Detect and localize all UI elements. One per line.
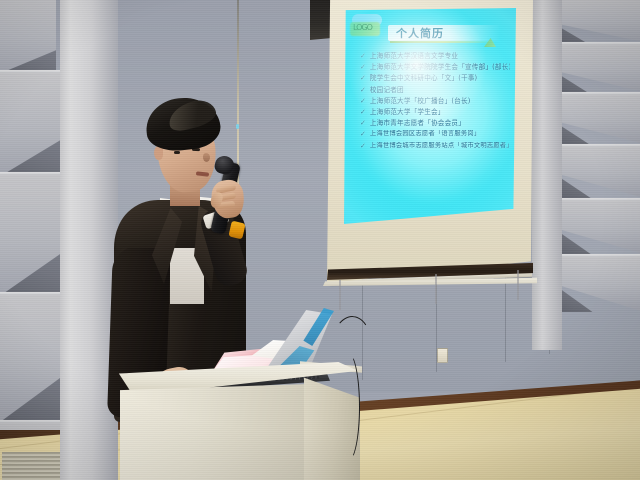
acoustic-wedge <box>552 198 640 254</box>
projected-slide: LOGO 个人简历 ✓ 上海师范大学汉语言文学专业 ✓ 上海师范大学文学院院学生… <box>344 8 516 224</box>
acoustic-wedge <box>0 0 56 76</box>
acoustic-wedge <box>0 70 60 180</box>
check-icon: ✓ <box>360 142 366 150</box>
bullet-text: 上海师范大学「学生会」 <box>370 108 445 116</box>
bullet-text: 上海师范大学汉语言文学专业 <box>370 52 458 60</box>
acoustic-wedge <box>0 292 66 428</box>
acoustic-wedge <box>0 172 64 300</box>
check-icon: ✓ <box>360 52 366 60</box>
list-item: ✓ 上海师范大学文学院院学生会「宣传部」(部长) <box>360 63 510 71</box>
check-icon: ✓ <box>360 119 366 127</box>
acoustic-wedge <box>552 42 640 92</box>
list-item: ✓ 上海市青年志愿者「协会会员」 <box>360 119 510 127</box>
list-item: ✓ 上海师范大学汉语言文学专业 <box>360 52 510 60</box>
slide-title-rule <box>390 41 496 43</box>
screen-support <box>435 274 437 304</box>
photo-scene: LOGO 个人简历 ✓ 上海师范大学汉语言文学专业 ✓ 上海师范大学文学院院学生… <box>0 0 640 480</box>
eye <box>174 151 180 154</box>
list-item: ✓ 上海师范大学「学生会」 <box>360 108 510 116</box>
acoustic-wedge <box>552 0 640 42</box>
slide-logo-text: LOGO <box>353 23 372 32</box>
check-icon: ✓ <box>360 74 366 82</box>
list-item: ✓ 院学生会中文科研中心「文」(干事) <box>360 74 510 82</box>
bullet-text: 校园记者团 <box>370 86 404 94</box>
list-item: ✓ 上海世博会园区志愿者「语言服务岗」 <box>360 130 510 138</box>
lectern <box>114 306 364 480</box>
projection-screen: LOGO 个人简历 ✓ 上海师范大学汉语言文学专业 ✓ 上海师范大学文学院院学生… <box>327 0 533 286</box>
bullet-text: 上海市青年志愿者「协会会员」 <box>370 119 465 127</box>
check-icon: ✓ <box>360 130 366 138</box>
bullet-text: 上海师范大学「校广播台」(台长) <box>370 97 471 105</box>
acoustic-wedge <box>552 254 640 312</box>
right-pillar <box>532 0 562 350</box>
bullet-text: 上海师范大学文学院院学生会「宣传部」(部长) <box>370 63 510 71</box>
video-cable-drop <box>336 352 360 462</box>
bullet-text: 上海世博会园区志愿者「语言服务岗」 <box>370 130 480 138</box>
screen-support <box>517 270 519 300</box>
wall-outlet <box>437 348 448 363</box>
check-icon: ✓ <box>360 86 366 94</box>
slide-title: 个人简历 <box>396 25 444 41</box>
list-item: ✓ 上海世博会城市志愿服务站点「城市文明志愿者」 <box>360 142 510 150</box>
list-item: ✓ 校园记者团 <box>360 86 510 94</box>
slide-bullet-list: ✓ 上海师范大学汉语言文学专业 ✓ 上海师范大学文学院院学生会「宣传部」(部长)… <box>360 52 510 153</box>
check-icon: ✓ <box>360 63 366 71</box>
bullet-text: 上海世博会城市志愿服务站点「城市文明志愿者」 <box>370 142 510 150</box>
check-icon: ✓ <box>360 97 366 105</box>
bullet-text: 院学生会中文科研中心「文」(干事) <box>370 74 477 82</box>
nose <box>203 153 210 162</box>
lectern-front-panel <box>120 384 310 480</box>
acoustic-wedge <box>552 144 640 198</box>
acoustic-wedge <box>552 92 640 144</box>
list-item: ✓ 上海师范大学「校广播台」(台长) <box>360 97 510 105</box>
check-icon: ✓ <box>360 108 366 116</box>
slide-logo-icon: LOGO <box>350 14 384 40</box>
acoustic-wedge <box>0 420 66 430</box>
